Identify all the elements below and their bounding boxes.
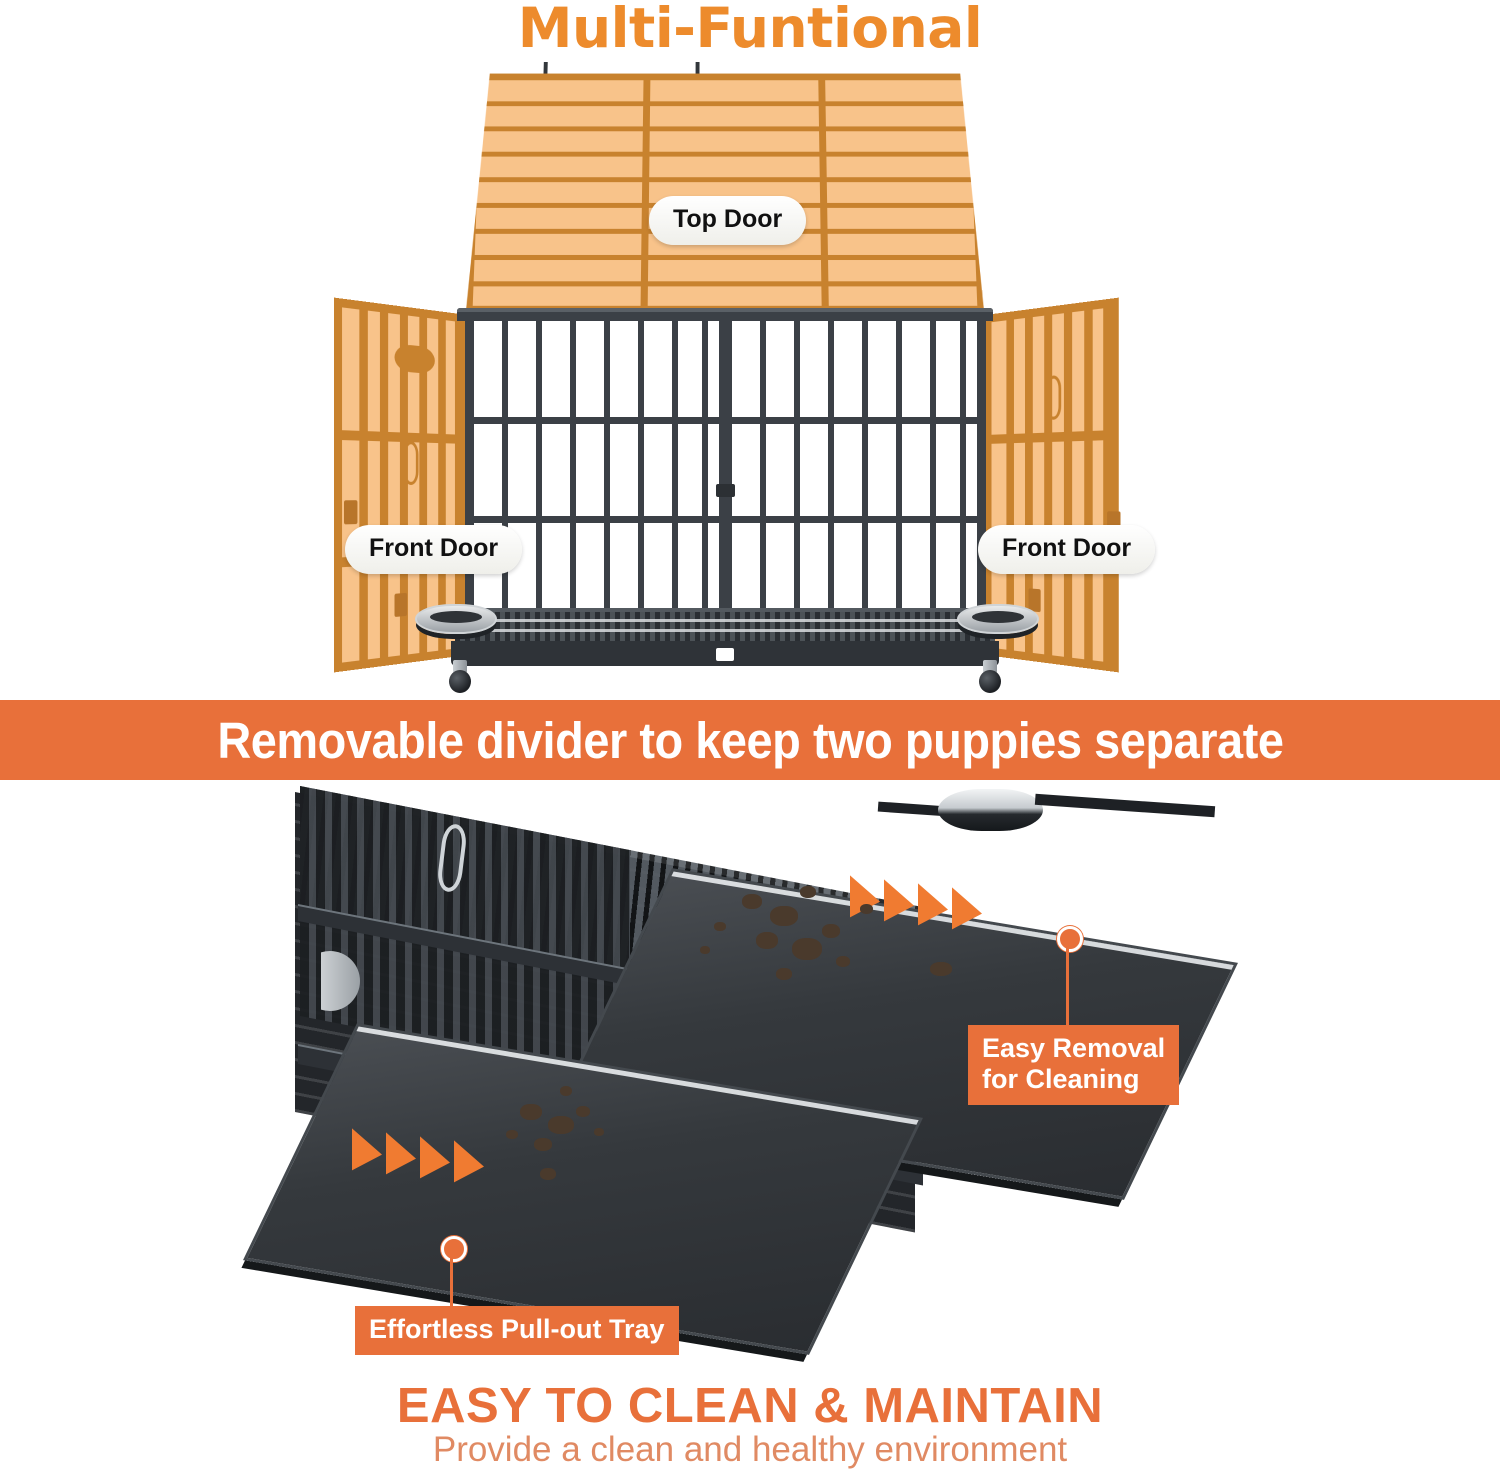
banner-text: Removable divider to keep two puppies se… (217, 711, 1283, 770)
debris (576, 1106, 590, 1117)
debris (560, 1086, 572, 1096)
debris (700, 946, 710, 954)
pull-out-tray-edge (451, 641, 999, 666)
food-bowl-right (957, 604, 1039, 634)
debris (836, 956, 850, 967)
caster-wheel-right (979, 660, 1001, 694)
cage-left-chamber (465, 321, 728, 619)
left-door-hook (403, 441, 418, 485)
debris (520, 1104, 542, 1120)
callout-leader-pull-out-tray (450, 1256, 453, 1308)
center-latch (716, 484, 735, 497)
debris (534, 1138, 552, 1151)
tray-photo (0, 786, 1500, 1366)
debris (770, 906, 798, 926)
debris (930, 962, 952, 976)
crate-illustration: Top Door Front Door Front Door (0, 60, 1500, 700)
debris (506, 1130, 518, 1139)
grate-floor (455, 608, 995, 644)
callout-dot-easy-removal (1057, 926, 1083, 952)
callout-top-door: Top Door (649, 196, 806, 245)
footer-subtitle: Provide a clean and healthy environment (0, 1430, 1500, 1470)
cage-top-frame (457, 308, 993, 321)
page-title: Multi-Funtional (0, 0, 1500, 60)
debris (714, 922, 726, 931)
left-door-lower-latch (395, 593, 408, 617)
debris (822, 924, 840, 938)
debris (860, 904, 873, 914)
debris (540, 1168, 556, 1180)
left-door-latch (344, 500, 357, 524)
debris (594, 1128, 604, 1136)
divider-banner: Removable divider to keep two puppies se… (0, 700, 1500, 780)
debris (792, 938, 822, 960)
callout-front-door-left: Front Door (345, 525, 522, 574)
caster-wheel-left (449, 660, 471, 694)
cage-divider (720, 321, 731, 619)
callout-dot-pull-out-tray (441, 1236, 467, 1262)
cage-right-chamber (723, 321, 986, 619)
callout-pull-out-tray: Effortless Pull-out Tray (355, 1306, 679, 1355)
photo-top-bowl (938, 789, 1043, 831)
debris (742, 894, 762, 909)
infographic-page: Multi-Funtional (0, 0, 1500, 1478)
top-door-hinge-left (543, 62, 547, 75)
right-door-hook (1046, 375, 1061, 420)
callout-leader-easy-removal (1066, 946, 1069, 1026)
callout-front-door-right: Front Door (978, 525, 1155, 574)
photo-bowl-bracket-right (1035, 794, 1215, 818)
callout-easy-removal: Easy Removal for Cleaning (968, 1025, 1179, 1105)
cage-body (465, 308, 985, 638)
debris (800, 886, 816, 898)
debris (776, 968, 792, 980)
footer-headline: EASY TO CLEAN & MAINTAIN (0, 1378, 1500, 1434)
debris (548, 1116, 574, 1134)
debris (756, 932, 778, 949)
food-bowl-left (415, 604, 497, 634)
top-door-hinge-right (696, 62, 700, 75)
